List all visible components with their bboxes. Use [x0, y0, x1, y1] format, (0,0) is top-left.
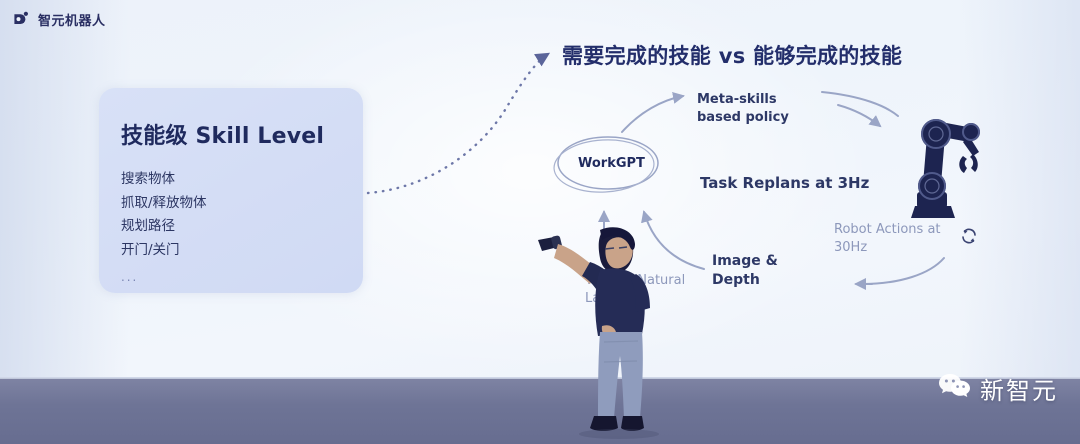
screenshot-stage: 智元机器人 需要完成的技能 vs 能够完成的技能 技能级 Skill Level…: [0, 0, 1080, 444]
skill-card-title: 技能级 Skill Level: [121, 118, 363, 150]
channel-watermark: 新智元: [938, 371, 1058, 406]
skill-card-ellipsis: ...: [121, 263, 363, 284]
diagram-label-image-depth: Image & Depth: [712, 252, 802, 290]
diagram-label-task-replans: Task Replans at 3Hz: [700, 173, 869, 193]
refresh-cycle-icon: [959, 226, 979, 251]
skill-level-card: 技能级 Skill Level 搜索物体 抓取/释放物体 规划路径 开门/关门 …: [99, 88, 363, 293]
agibot-logo-icon: [12, 10, 31, 29]
diagram-label-robot-actions: Robot Actions at 30Hz: [834, 221, 949, 256]
list-item: 开门/关门: [121, 239, 363, 263]
robot-arm-icon: [893, 106, 985, 233]
wechat-icon: [938, 372, 972, 405]
slide-headline: 需要完成的技能 vs 能够完成的技能: [562, 40, 902, 70]
presenter-silhouette: [524, 222, 664, 444]
brand-logo: 智元机器人: [12, 10, 106, 29]
presenter-legs: [598, 332, 643, 418]
list-item: 规划路径: [121, 215, 363, 239]
skill-card-list: 搜索物体 抓取/释放物体 规划路径 开门/关门: [121, 168, 363, 263]
diagram-node-workgpt: WorkGPT: [578, 155, 645, 173]
list-item: 抓取/释放物体: [121, 192, 363, 216]
watermark-text: 新智元: [980, 371, 1058, 406]
presenter-torso: [595, 268, 650, 338]
list-item: 搜索物体: [121, 168, 363, 192]
diagram-label-meta-skills: Meta-skills based policy: [697, 91, 817, 126]
presenter-head: [599, 227, 635, 273]
presenter-shoes: [590, 416, 644, 431]
brand-name: 智元机器人: [38, 10, 106, 29]
